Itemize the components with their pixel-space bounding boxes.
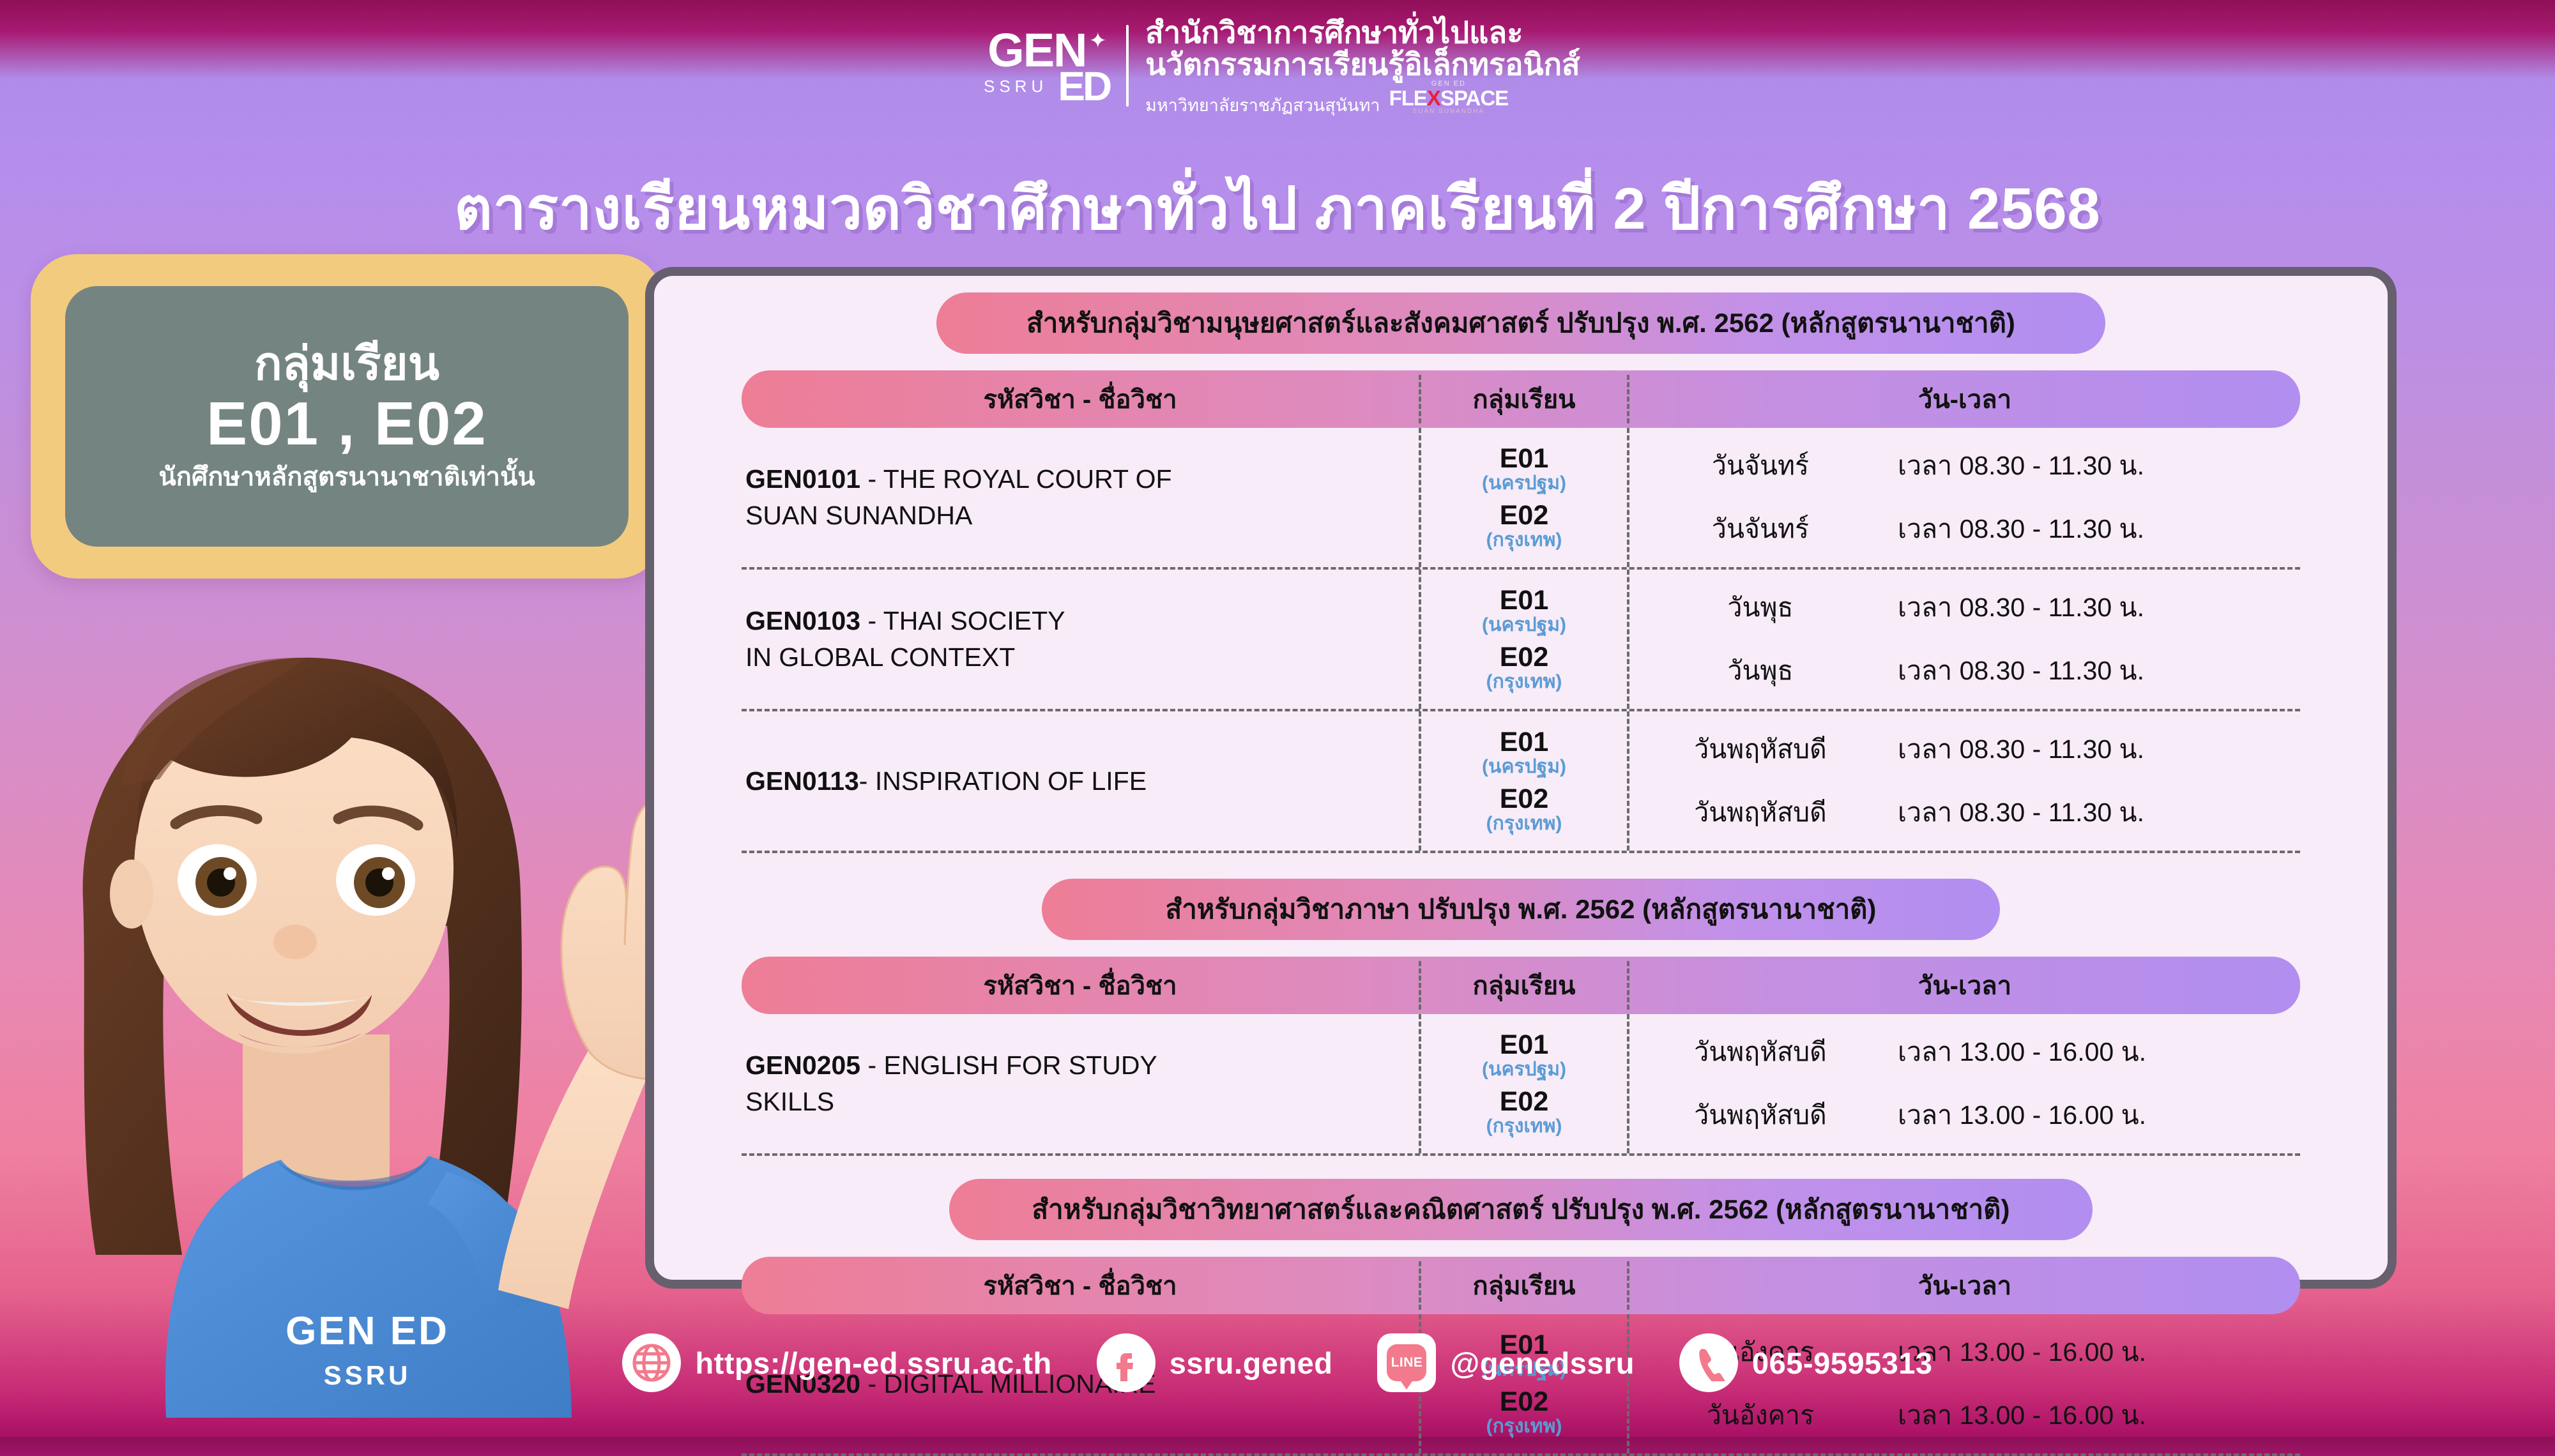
website-label: https://gen-ed.ssru.ac.th <box>695 1346 1051 1381</box>
slot-day: วันจันทร์ <box>1629 508 1891 550</box>
slot-day: วันจันทร์ <box>1629 445 1891 487</box>
section-heading-pill: สำหรับกลุ่มวิชามนุษยศาสตร์และสังคมศาสตร์… <box>936 292 2105 354</box>
section-heading-pill: สำหรับกลุ่มวิชาวิทยาศาสตร์และคณิตศาสตร์ … <box>949 1179 2093 1240</box>
slot-time: เวลา 08.30 - 11.30 น. <box>1891 508 2300 550</box>
cell-group: E01(นครปฐม)E02(กรุงเทพ) <box>1419 1014 1629 1153</box>
table-row: GEN0113- INSPIRATION OF LIFEE01(นครปฐม)E… <box>742 711 2300 853</box>
schedule-slot: วันพุธเวลา 08.30 - 11.30 น. <box>1629 650 2300 692</box>
column-header-daytime: วัน-เวลา <box>1629 965 2300 1006</box>
group-code: E02 <box>1500 1088 1549 1116</box>
course-name-line: GEN0205 - ENGLISH FOR STUDY <box>745 1047 1419 1084</box>
group-code: E01 <box>1500 445 1549 473</box>
cell-group: E01(นครปฐม)E02(กรุงเทพ) <box>1419 428 1629 567</box>
schedule-slot: วันจันทร์เวลา 08.30 - 11.30 น. <box>1629 445 2300 487</box>
globe-icon <box>622 1333 681 1392</box>
group-campus: (นครปฐม) <box>1482 474 1566 493</box>
column-header-daytime: วัน-เวลา <box>1629 379 2300 420</box>
line-bubble: LINE <box>1387 1344 1426 1381</box>
cell-course-name: GEN0103 - THAI SOCIETY IN GLOBAL CONTEXT <box>742 570 1419 709</box>
course-name-line: IN GLOBAL CONTEXT <box>745 639 1419 676</box>
cell-group: E01(นครปฐม)E02(กรุงเทพ) <box>1419 570 1629 709</box>
group-code: E02 <box>1500 644 1549 671</box>
course-name-line: GEN0113- INSPIRATION OF LIFE <box>745 763 1419 800</box>
line-label: @genedssru <box>1450 1346 1635 1381</box>
sparkle-icon: ✦ <box>1089 32 1106 50</box>
group-campus: (นครปฐม) <box>1482 616 1566 635</box>
cell-course-name: GEN0205 - ENGLISH FOR STUDYSKILLS <box>742 1014 1419 1153</box>
gen-ed-logomark: GEN ✦ SSRU ED <box>984 31 1110 101</box>
group-entry: E01(นครปฐม) <box>1482 445 1566 493</box>
slot-time: เวลา 13.00 - 16.00 น. <box>1891 1095 2300 1136</box>
group-campus: (กรุงเทพ) <box>1486 531 1562 550</box>
group-campus: (กรุงเทพ) <box>1486 814 1562 833</box>
phone-icon <box>1679 1333 1738 1392</box>
contact-website[interactable]: https://gen-ed.ssru.ac.th <box>622 1333 1051 1392</box>
cell-daytime: วันจันทร์เวลา 08.30 - 11.30 น.วันจันทร์เ… <box>1629 428 2300 567</box>
slot-day: วันพฤหัสบดี <box>1629 1031 1891 1073</box>
cell-daytime: วันพฤหัสบดีเวลา 13.00 - 16.00 น.วันพฤหัส… <box>1629 1014 2300 1153</box>
flexspace-wordmark: FLEXSPACE <box>1389 87 1509 109</box>
org-line-3: มหาวิทยาลัยราชภัฏสวนสุนันทา <box>1145 96 1380 115</box>
schedule-slot: วันพฤหัสบดีเวลา 13.00 - 16.00 น. <box>1629 1031 2300 1073</box>
group-code: E02 <box>1500 785 1549 813</box>
facebook-icon <box>1097 1333 1155 1392</box>
table-header-row: รหัสวิชา - ชื่อวิชากลุ่มเรียนวัน-เวลา <box>742 957 2300 1014</box>
schedule-slot: วันพุธเวลา 08.30 - 11.30 น. <box>1629 587 2300 628</box>
group-campus: (นครปฐม) <box>1482 757 1566 777</box>
contact-line[interactable]: LINE @genedssru <box>1377 1333 1635 1392</box>
group-entry: E01(นครปฐม) <box>1482 729 1566 777</box>
cell-course-name: GEN0113- INSPIRATION OF LIFE <box>742 711 1419 851</box>
sections-container: สำหรับกลุ่มวิชามนุษยศาสตร์และสังคมศาสตร์… <box>654 292 2388 1456</box>
group-entry: E02(กรุงเทพ) <box>1486 644 1562 692</box>
cell-group: E01(นครปฐม)E02(กรุงเทพ) <box>1419 711 1629 851</box>
table-row: GEN0101 - THE ROYAL COURT OFSUAN SUNANDH… <box>742 428 2300 570</box>
group-entry: E02(กรุงเทพ) <box>1486 1088 1562 1136</box>
course-name-line: GEN0103 - THAI SOCIETY <box>745 603 1419 639</box>
schedule-section: สำหรับกลุ่มวิชามนุษยศาสตร์และสังคมศาสตร์… <box>654 292 2388 853</box>
group-entry: E02(กรุงเทพ) <box>1486 785 1562 833</box>
course-name-line: SKILLS <box>745 1084 1419 1120</box>
group-code: E01 <box>1500 729 1549 756</box>
contact-footer: https://gen-ed.ssru.ac.th ssru.gened LIN… <box>0 1289 2555 1437</box>
flexspace-bottom-text: SUAN SUNANDHA <box>1413 109 1485 115</box>
slot-time: เวลา 08.30 - 11.30 น. <box>1891 792 2300 833</box>
slot-day: วันพฤหัสบดี <box>1629 1095 1891 1136</box>
badge-note: นักศึกษาหลักสูตรนานาชาติเท่านั้น <box>158 462 535 492</box>
table-row: GEN0205 - ENGLISH FOR STUDYSKILLSE01(นคร… <box>742 1014 2300 1156</box>
page-title: ตารางเรียนหมวดวิชาศึกษาทั่วไป ภาคเรียนที… <box>0 161 2555 255</box>
org-line-1: สำนักวิชาการศึกษาทั่วไปและ <box>1145 17 1580 49</box>
flexspace-x-icon: X <box>1427 86 1440 110</box>
cell-course-name: GEN0101 - THE ROYAL COURT OFSUAN SUNANDH… <box>742 428 1419 567</box>
slot-day: วันพฤหัสบดี <box>1629 792 1891 833</box>
flexspace-logo: GEN ED FLEXSPACE SUAN SUNANDHA <box>1389 80 1509 115</box>
slot-day: วันพุธ <box>1629 587 1891 628</box>
contact-phone[interactable]: 065-9595313 <box>1679 1333 1933 1392</box>
schedule-slot: วันจันทร์เวลา 08.30 - 11.30 น. <box>1629 508 2300 550</box>
slot-time: เวลา 13.00 - 16.00 น. <box>1891 1031 2300 1073</box>
column-header-group: กลุ่มเรียน <box>1419 379 1629 420</box>
line-badge-text: LINE <box>1391 1355 1423 1370</box>
column-header-course: รหัสวิชา - ชื่อวิชา <box>742 379 1419 420</box>
class-group-badge-inner: กลุ่มเรียน E01 , E02 นักศึกษาหลักสูตรนาน… <box>65 286 629 547</box>
slot-time: เวลา 08.30 - 11.30 น. <box>1891 445 2300 487</box>
slot-time: เวลา 08.30 - 11.30 น. <box>1891 729 2300 770</box>
column-header-group: กลุ่มเรียน <box>1419 965 1629 1006</box>
phone-label: 065-9595313 <box>1752 1346 1933 1381</box>
group-campus: (นครปฐม) <box>1482 1060 1566 1079</box>
table-header-row: รหัสวิชา - ชื่อวิชากลุ่มเรียนวัน-เวลา <box>742 370 2300 428</box>
logo-divider <box>1126 25 1129 107</box>
group-campus: (กรุงเทพ) <box>1486 1117 1562 1136</box>
section-heading-pill: สำหรับกลุ่มวิชาภาษา ปรับปรุง พ.ศ. 2562 (… <box>1042 879 2000 940</box>
schedule-slot: วันพฤหัสบดีเวลา 08.30 - 11.30 น. <box>1629 792 2300 833</box>
group-code: E01 <box>1500 1031 1549 1059</box>
brand-logo: GEN ✦ SSRU ED สำนักวิชาการศึกษาทั่วไปและ… <box>984 11 1580 120</box>
slot-day: วันพฤหัสบดี <box>1629 729 1891 770</box>
badge-label-group: กลุ่มเรียน <box>254 340 439 389</box>
slot-time: เวลา 08.30 - 11.30 น. <box>1891 587 2300 628</box>
group-code: E01 <box>1500 587 1549 614</box>
schedule-table: รหัสวิชา - ชื่อวิชากลุ่มเรียนวัน-เวลาGEN… <box>742 370 2300 853</box>
logo-ed-text: ED <box>1058 72 1110 101</box>
group-entry: E01(นครปฐม) <box>1482 587 1566 635</box>
organization-name: สำนักวิชาการศึกษาทั่วไปและ นวัตกรรมการเร… <box>1145 17 1580 115</box>
group-entry: E01(นครปฐม) <box>1482 1031 1566 1079</box>
schedule-table: รหัสวิชา - ชื่อวิชากลุ่มเรียนวัน-เวลาGEN… <box>742 957 2300 1156</box>
course-name-line: SUAN SUNANDHA <box>745 497 1419 534</box>
schedule-slot: วันพฤหัสบดีเวลา 13.00 - 16.00 น. <box>1629 1095 2300 1136</box>
cell-daytime: วันพุธเวลา 08.30 - 11.30 น.วันพุธเวลา 08… <box>1629 570 2300 709</box>
org-line-2: นวัตกรรมการเรียนรู้อิเล็กทรอนิกส์ <box>1145 49 1580 80</box>
line-icon: LINE <box>1377 1333 1436 1392</box>
cell-daytime: วันพฤหัสบดีเวลา 08.30 - 11.30 น.วันพฤหัส… <box>1629 711 2300 851</box>
column-header-course: รหัสวิชา - ชื่อวิชา <box>742 965 1419 1006</box>
contact-facebook[interactable]: ssru.gened <box>1097 1333 1333 1392</box>
badge-group-codes: E01 , E02 <box>206 389 487 459</box>
class-group-badge: กลุ่มเรียน E01 , E02 นักศึกษาหลักสูตรนาน… <box>31 254 663 579</box>
course-name-line: GEN0101 - THE ROYAL COURT OF <box>745 461 1419 497</box>
slot-day: วันพุธ <box>1629 650 1891 692</box>
schedule-panel: สำหรับกลุ่มวิชามนุษยศาสตร์และสังคมศาสตร์… <box>645 267 2397 1289</box>
group-code: E02 <box>1500 502 1549 529</box>
facebook-label: ssru.gened <box>1170 1346 1333 1381</box>
schedule-slot: วันพฤหัสบดีเวลา 08.30 - 11.30 น. <box>1629 729 2300 770</box>
group-campus: (กรุงเทพ) <box>1486 672 1562 692</box>
group-entry: E02(กรุงเทพ) <box>1486 502 1562 550</box>
logo-ssru-text: SSRU <box>984 77 1048 96</box>
table-row: GEN0103 - THAI SOCIETY IN GLOBAL CONTEXT… <box>742 570 2300 711</box>
slot-time: เวลา 08.30 - 11.30 น. <box>1891 650 2300 692</box>
schedule-section: สำหรับกลุ่มวิชาภาษา ปรับปรุง พ.ศ. 2562 (… <box>654 879 2388 1156</box>
